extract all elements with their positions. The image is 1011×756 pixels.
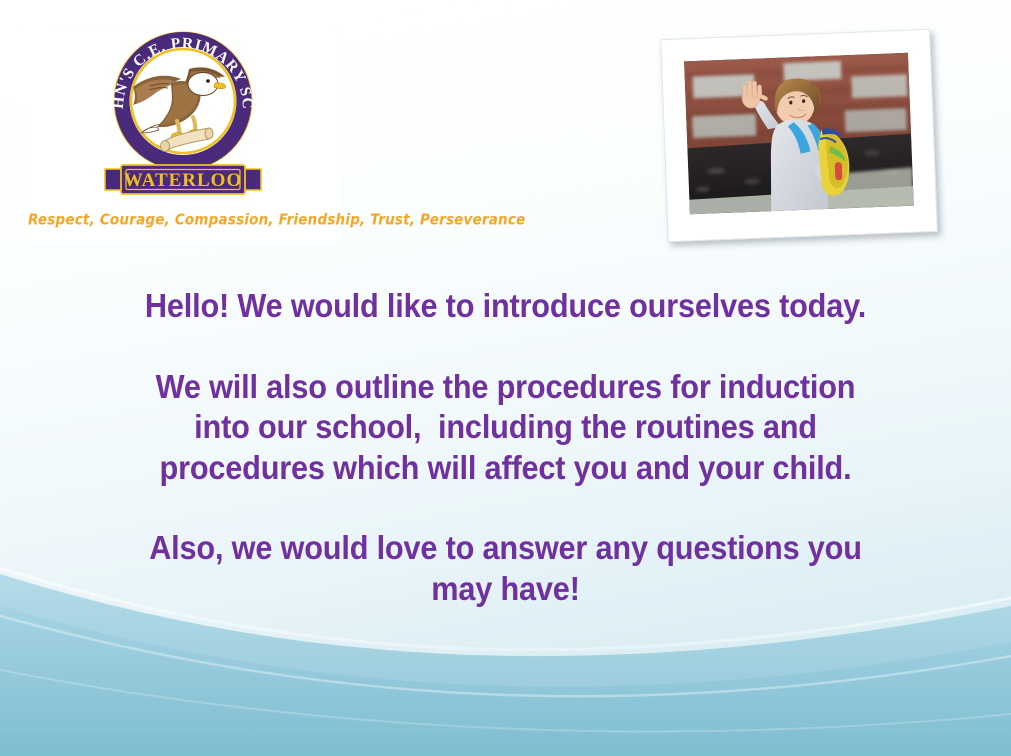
paragraph-spacer bbox=[82, 488, 929, 528]
body-paragraph-1: Hello! We would like to introduce oursel… bbox=[82, 286, 929, 327]
school-logo: ST. JOHN'S C.E. PRIMARY SCHOOL bbox=[25, 27, 340, 243]
body-paragraph-3-line-2: may have! bbox=[82, 569, 929, 610]
body-paragraph-2-line-2: into our school, including the routines … bbox=[82, 407, 929, 448]
school-crest-icon: ST. JOHN'S C.E. PRIMARY SCHOOL bbox=[93, 29, 273, 207]
photo-frame bbox=[660, 29, 938, 242]
body-paragraph-2-line-1: We will also outline the procedures for … bbox=[82, 367, 929, 408]
photo-image bbox=[684, 53, 914, 214]
presentation-slide: ST. JOHN'S C.E. PRIMARY SCHOOL bbox=[0, 0, 1011, 756]
slide-body-text: Hello! We would like to introduce oursel… bbox=[82, 286, 929, 609]
school-motto: Respect, Courage, Compassion, Friendship… bbox=[28, 211, 337, 229]
paragraph-spacer bbox=[82, 327, 929, 367]
crest-banner-text: WATERLOO bbox=[123, 170, 242, 191]
body-paragraph-2-line-3: procedures which will affect you and you… bbox=[82, 448, 929, 489]
body-paragraph-3-line-1: Also, we would love to answer any questi… bbox=[82, 528, 929, 569]
child-waving-photo bbox=[684, 53, 914, 214]
